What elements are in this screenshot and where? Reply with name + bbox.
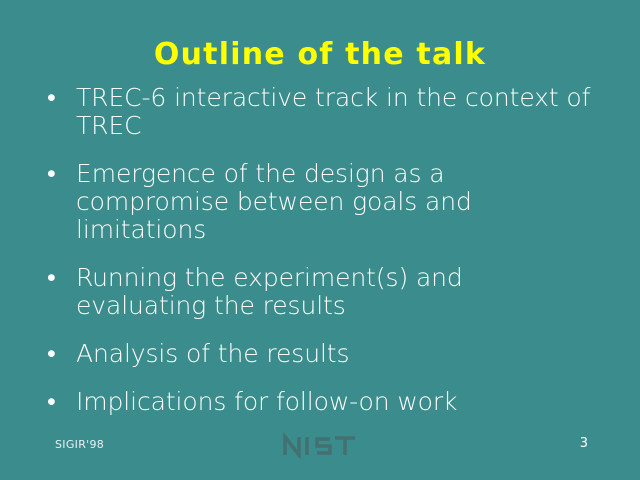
list-item-label: TREC-6 interactive track in the context … — [76, 84, 600, 140]
bullet-point-icon: • — [47, 160, 56, 188]
list-item-label: Implications for follow-on work — [76, 388, 600, 416]
list-item-label: Analysis of the results — [76, 340, 600, 368]
presentation-slide: Outline of the talk • TREC-6 interactive… — [0, 0, 640, 480]
list-item: • Implications for follow-on work — [40, 388, 600, 416]
bullet-point-icon: • — [47, 84, 56, 112]
bullet-point-icon: • — [47, 340, 56, 368]
conference-label: SIGIR'98 — [55, 438, 104, 451]
list-item: • Analysis of the results — [40, 340, 600, 368]
list-item: • Emergence of the design as a compromis… — [40, 160, 600, 244]
list-item-label: Emergence of the design as a compromise … — [76, 160, 600, 244]
list-item-label: Running the experiment(s) and evaluating… — [76, 264, 600, 320]
slide-footer: SIGIR'98 3 — [0, 420, 640, 480]
bullet-point-icon: • — [47, 264, 56, 292]
page-number: 3 — [580, 436, 588, 451]
list-item: • Running the experiment(s) and evaluati… — [40, 264, 600, 320]
bullet-list: • TREC-6 interactive track in the contex… — [40, 84, 600, 416]
list-item: • TREC-6 interactive track in the contex… — [40, 84, 600, 140]
bullet-point-icon: • — [47, 388, 56, 416]
nist-logo — [282, 432, 358, 458]
page-title: Outline of the talk — [0, 38, 640, 72]
